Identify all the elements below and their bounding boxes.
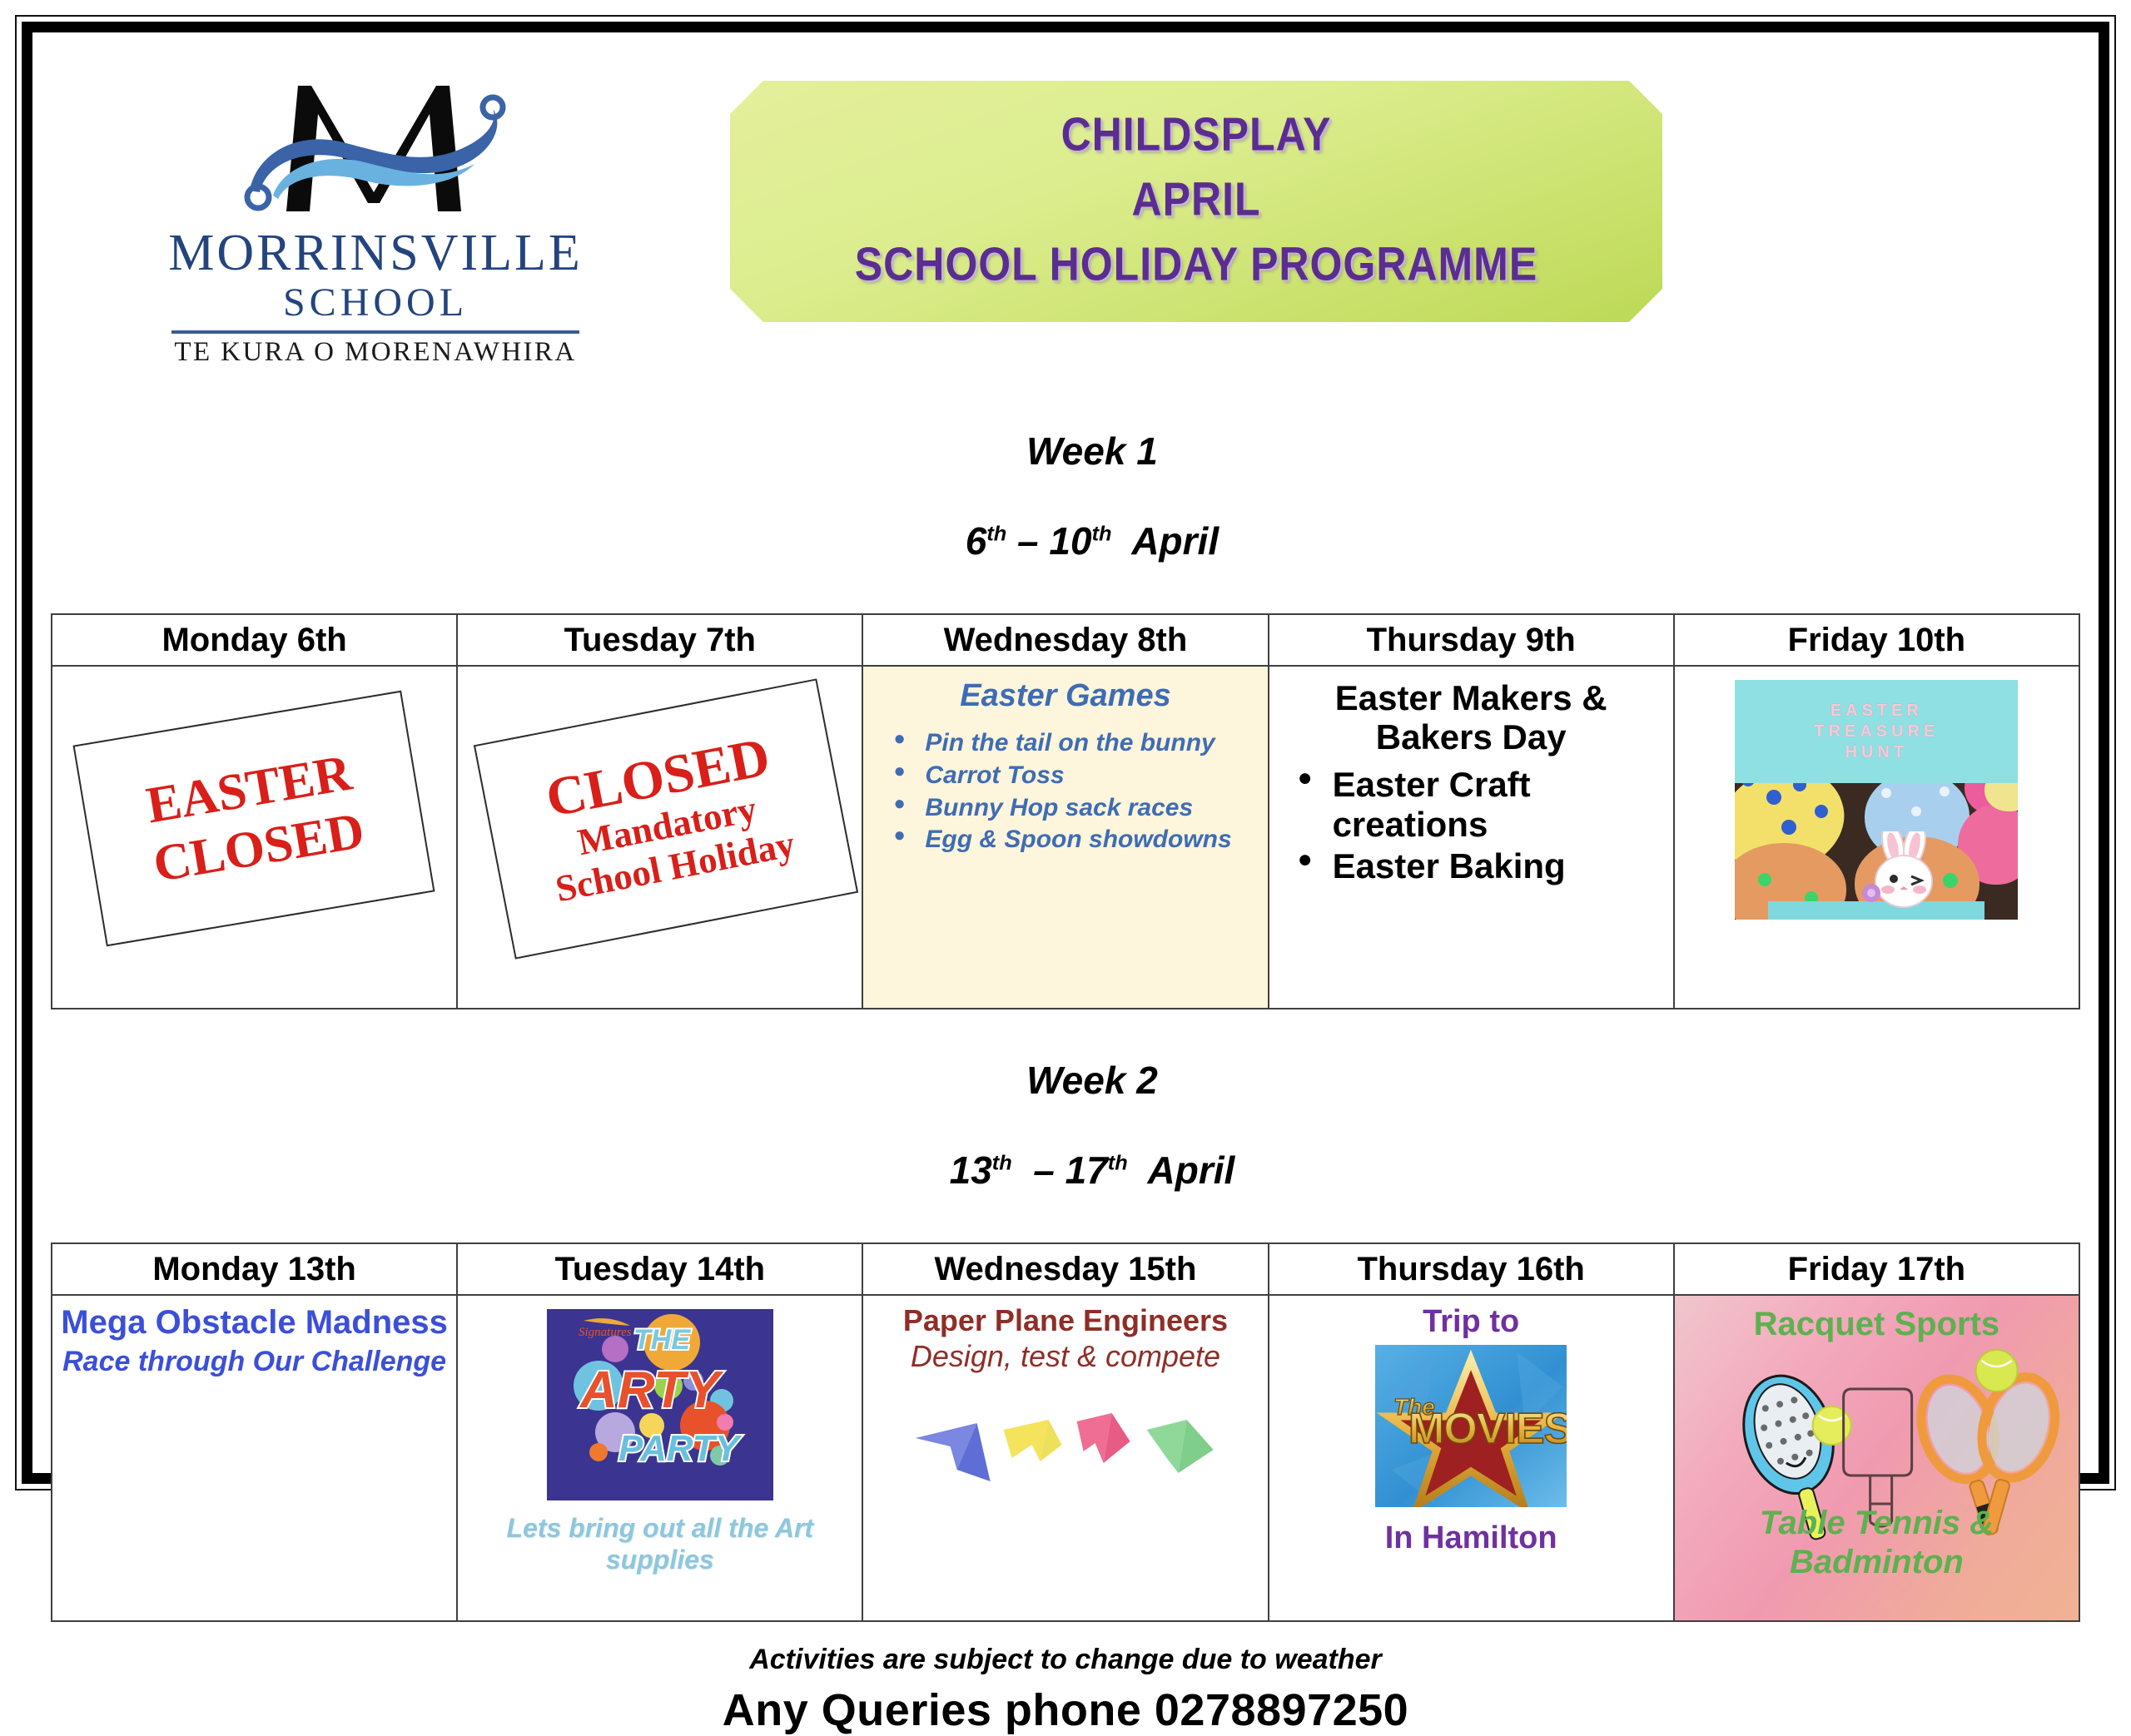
easter-treasure-hunt-image: EASTER TREASURE HUNT — [1735, 680, 2018, 920]
arty-party-caption: Lets bring out all the Art supplies — [464, 1512, 855, 1576]
week-2-table: Monday 13th Tuesday 14th Wednesday 15th … — [51, 1242, 2080, 1622]
paper-plane-subtitle: Design, test & compete — [870, 1339, 1260, 1373]
list-item: Easter Craft creations — [1293, 765, 1662, 845]
week-1-header-row: Monday 6th Tuesday 7th Wednesday 8th Thu… — [52, 614, 2079, 666]
banner-line-1: CHILDSPLAY — [1061, 107, 1332, 161]
svg-text:PARTY: PARTY — [618, 1428, 743, 1469]
svg-text:THE: THE — [633, 1324, 691, 1356]
easter-makers-list: Easter Craft creations Easter Baking — [1281, 765, 1662, 886]
week-2-content-row: Mega Obstacle Madness Race through Our C… — [52, 1295, 2079, 1621]
trip-to-title: Trip to — [1276, 1304, 1667, 1340]
eth-text-3: HUNT — [1845, 742, 1909, 763]
week1-cell-wednesday: Easter Games Pin the tail on the bunny C… — [862, 666, 1268, 1009]
eth-text-2: TREASURE — [1814, 722, 1939, 742]
school-logo: MORRINSVILLE SCHOOL TE KURA O MORENAWHIR… — [51, 37, 700, 368]
list-item: Bunny Hop sack races — [892, 794, 1255, 823]
svg-text:MOVIES: MOVIES — [1408, 1405, 1567, 1453]
list-item: Pin the tail on the bunny — [892, 729, 1255, 758]
easter-treasure-hunt-banner: EASTER TREASURE HUNT — [1735, 680, 2018, 783]
school-name-sub: SCHOOL — [283, 280, 468, 325]
easter-makers-title: Easter Makers & Bakers Day — [1281, 678, 1662, 756]
week-2-header-row: Monday 13th Tuesday 14th Wednesday 15th … — [52, 1243, 2079, 1295]
paper-planes-photo — [870, 1383, 1260, 1483]
the-arty-party-logo-image: THE ARTY PARTY Signatures — [547, 1309, 773, 1500]
mega-obstacle-title: Mega Obstacle Madness — [59, 1304, 450, 1342]
week1-cell-monday: EASTER CLOSED — [52, 666, 457, 1009]
week1-cell-friday: EASTER TREASURE HUNT — [1674, 666, 2079, 1009]
week-1-table: Monday 6th Tuesday 7th Wednesday 8th Thu… — [51, 613, 2080, 1009]
week2-header-wednesday: Wednesday 15th — [862, 1243, 1268, 1295]
mega-obstacle-subtitle: Race through Our Challenge — [59, 1346, 450, 1378]
svg-text:Signatures: Signatures — [579, 1326, 632, 1339]
week-2-label: Week 2 — [1026, 1059, 1158, 1102]
week2-cell-wednesday: Paper Plane Engineers Design, test & com… — [862, 1295, 1268, 1621]
school-name: MORRINSVILLE — [168, 227, 583, 280]
week2-header-tuesday: Tuesday 14th — [457, 1243, 862, 1295]
week2-cell-tuesday: THE ARTY PARTY Signatures Lets bring out… — [457, 1295, 862, 1621]
week-1-label: Week 1 — [1026, 429, 1158, 473]
poster-inner-border: MORRINSVILLE SCHOOL TE KURA O MORENAWHIR… — [22, 22, 2109, 1484]
week2-header-friday: Friday 17th — [1674, 1243, 2079, 1295]
school-maori-name: TE KURA O MORENAWHIRA — [174, 337, 576, 368]
banner-line-3: SCHOOL HOLIDAY PROGRAMME — [855, 236, 1537, 291]
week1-header-wednesday: Wednesday 8th — [862, 614, 1268, 666]
closed-mandatory-sign: CLOSED Mandatory School Holiday — [474, 678, 858, 959]
logo-divider — [171, 330, 579, 334]
easter-closed-sign: EASTER CLOSED — [73, 691, 435, 947]
week1-cell-tuesday: CLOSED Mandatory School Holiday — [457, 666, 862, 1009]
week2-cell-thursday: Trip to — [1269, 1295, 1674, 1621]
queries-phone: Any Queries phone 0278897250 — [51, 1684, 2080, 1736]
week-1-title: Week 1 6th – 10th April — [51, 380, 2080, 613]
racquet-sports-subtitle: Table Tennis & Badminton — [1675, 1504, 2079, 1582]
week1-header-friday: Friday 10th — [1674, 614, 2079, 666]
easter-games-list: Pin the tail on the bunny Carrot Toss Bu… — [875, 729, 1255, 855]
easter-games-title: Easter Games — [875, 678, 1255, 714]
banner-line-2: APRIL — [1132, 171, 1261, 226]
week2-cell-friday: Racquet Sports — [1674, 1295, 2079, 1621]
week1-header-tuesday: Tuesday 7th — [457, 614, 862, 666]
poster: MORRINSVILLE SCHOOL TE KURA O MORENAWHIR… — [0, 0, 2131, 1505]
week-1-dates: 6th – 10th April — [966, 519, 1219, 563]
poster-header: MORRINSVILLE SCHOOL TE KURA O MORENAWHIR… — [51, 37, 2080, 380]
svg-text:ARTY: ARTY — [579, 1362, 724, 1419]
title-banner: CHILDSPLAY APRIL SCHOOL HOLIDAY PROGRAMM… — [730, 81, 1662, 322]
morrinsville-m-koru-logo-icon — [238, 66, 513, 224]
week-2-title: Week 2 13th – 17th April — [51, 1009, 2080, 1242]
week1-header-monday: Monday 6th — [52, 614, 457, 666]
eth-text-1: EASTER — [1830, 701, 1923, 722]
week2-header-thursday: Thursday 16th — [1269, 1243, 1674, 1295]
the-movies-logo-image: The MOVIES — [1375, 1345, 1567, 1507]
list-item: Carrot Toss — [892, 761, 1255, 791]
week-2-dates: 13th – 17th April — [950, 1148, 1235, 1192]
week-1-content-row: EASTER CLOSED CLOSED Mandatory School Ho… — [52, 666, 2079, 1009]
list-item: Easter Baking — [1293, 846, 1662, 886]
title-banner-wrap: CHILDSPLAY APRIL SCHOOL HOLIDAY PROGRAMM… — [700, 37, 2080, 322]
list-item: Egg & Spoon showdowns — [892, 826, 1255, 855]
racquet-sports-title: Racquet Sports — [1675, 1296, 2079, 1343]
poster-outer-border: MORRINSVILLE SCHOOL TE KURA O MORENAWHIR… — [15, 15, 2116, 1490]
week1-cell-thursday: Easter Makers & Bakers Day Easter Craft … — [1269, 666, 1674, 1009]
week1-header-thursday: Thursday 9th — [1269, 614, 1674, 666]
week2-header-monday: Monday 13th — [52, 1243, 457, 1295]
weather-note: Activities are subject to change due to … — [51, 1644, 2080, 1676]
bunny-icon — [1860, 831, 1951, 920]
in-hamilton-text: In Hamilton — [1276, 1520, 1667, 1556]
paper-plane-title: Paper Plane Engineers — [870, 1304, 1260, 1337]
racquet-sports-image: Racquet Sports — [1675, 1296, 2079, 1620]
week2-cell-monday: Mega Obstacle Madness Race through Our C… — [52, 1295, 457, 1621]
